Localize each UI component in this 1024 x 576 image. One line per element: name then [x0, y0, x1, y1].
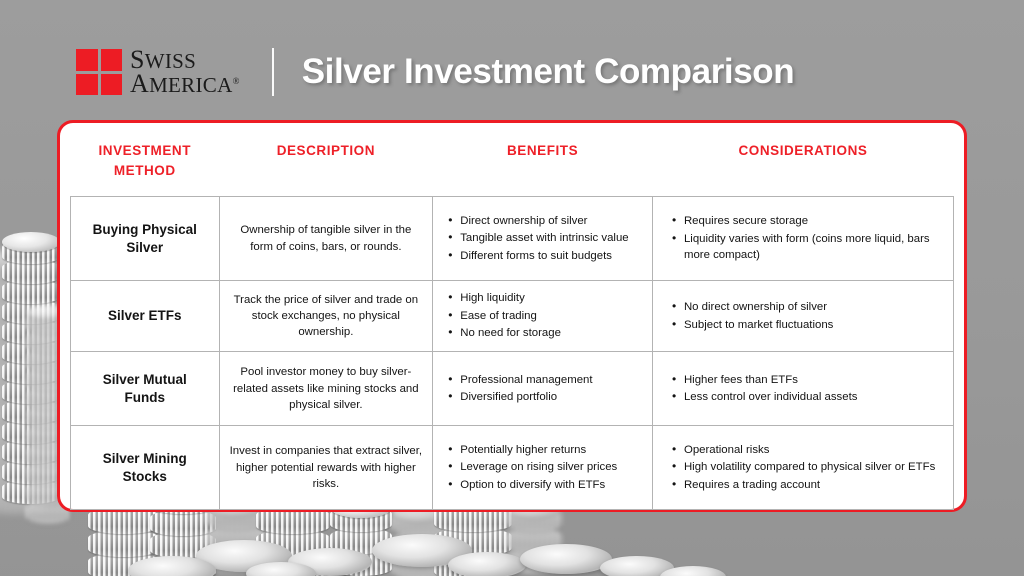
list-item: Leverage on rising silver prices: [447, 459, 642, 476]
column-header-description: DESCRIPTION: [219, 137, 433, 197]
list-item: No need for storage: [447, 325, 642, 342]
page-title: Silver Investment Comparison: [302, 52, 795, 92]
table-row: Silver Mutual FundsPool investor money t…: [71, 352, 954, 426]
cell-benefits: Potentially higher returnsLeverage on ri…: [433, 426, 653, 510]
cell-considerations-list: Requires secure storageLiquidity varies …: [671, 213, 943, 264]
cell-considerations-list: No direct ownership of silverSubject to …: [671, 299, 943, 333]
list-item: Potentially higher returns: [447, 442, 642, 459]
logo-wordmark: SWISS AMERICA®: [130, 48, 240, 96]
table-row: Silver Mining StocksInvest in companies …: [71, 426, 954, 510]
cell-considerations: No direct ownership of silverSubject to …: [652, 281, 953, 352]
table-row: Silver ETFsTrack the price of silver and…: [71, 281, 954, 352]
cell-investment-method: Silver Mutual Funds: [71, 352, 220, 426]
list-item: Operational risks: [671, 442, 943, 459]
cell-description: Invest in companies that extract silver,…: [219, 426, 433, 510]
cell-considerations-list: Higher fees than ETFsLess control over i…: [671, 372, 943, 406]
list-item: Requires secure storage: [671, 213, 943, 230]
logo-registered-mark: ®: [233, 76, 240, 86]
cell-investment-method: Buying Physical Silver: [71, 197, 220, 281]
cell-description: Track the price of silver and trade on s…: [219, 281, 433, 352]
cell-benefits: Direct ownership of silver Tangible asse…: [433, 197, 653, 281]
logo-line-america: AMERICA®: [130, 72, 240, 96]
cell-benefits-list: High liquidityEase of tradingNo need for…: [447, 290, 642, 342]
list-item: Option to diversify with ETFs: [447, 477, 642, 494]
cell-description: Ownership of tangible silver in the form…: [219, 197, 433, 281]
column-header-investment-method: INVESTMENT METHOD: [71, 137, 220, 197]
brand-logo: SWISS AMERICA®: [76, 48, 240, 96]
comparison-table: INVESTMENT METHOD DESCRIPTION BENEFITS C…: [70, 137, 954, 510]
cell-considerations-list: Operational risksHigh volatility compare…: [671, 442, 943, 494]
cell-considerations: Higher fees than ETFsLess control over i…: [652, 352, 953, 426]
cell-description: Pool investor money to buy silver-relate…: [219, 352, 433, 426]
table-header-row: INVESTMENT METHOD DESCRIPTION BENEFITS C…: [71, 137, 954, 197]
column-header-benefits: BENEFITS: [433, 137, 653, 197]
cell-investment-method: Silver Mining Stocks: [71, 426, 220, 510]
cell-investment-method: Silver ETFs: [71, 281, 220, 352]
cell-benefits-list: Potentially higher returnsLeverage on ri…: [447, 442, 642, 494]
page-header: SWISS AMERICA® Silver Investment Compari…: [0, 38, 1024, 106]
logo-squares-icon: [76, 49, 122, 95]
list-item: Liquidity varies with form (coins more l…: [671, 231, 943, 264]
table-body: Buying Physical SilverOwnership of tangi…: [71, 197, 954, 510]
list-item: Higher fees than ETFs: [671, 372, 943, 389]
list-item: Professional management: [447, 372, 642, 389]
list-item: Requires a trading account: [671, 477, 943, 494]
cell-considerations: Operational risksHigh volatility compare…: [652, 426, 953, 510]
list-item: Less control over individual assets: [671, 389, 943, 406]
table-row: Buying Physical SilverOwnership of tangi…: [71, 197, 954, 281]
cell-benefits: High liquidityEase of tradingNo need for…: [433, 281, 653, 352]
list-item: Diversified portfolio: [447, 389, 642, 406]
list-item: No direct ownership of silver: [671, 299, 943, 316]
column-header-considerations: CONSIDERATIONS: [652, 137, 953, 197]
list-item: Different forms to suit budgets: [447, 248, 642, 265]
list-item: High volatility compared to physical sil…: [671, 459, 943, 476]
comparison-card: INVESTMENT METHOD DESCRIPTION BENEFITS C…: [57, 120, 967, 512]
list-item: Direct ownership of silver: [447, 213, 642, 230]
cell-considerations: Requires secure storageLiquidity varies …: [652, 197, 953, 281]
list-item: Ease of trading: [447, 308, 642, 325]
cell-benefits: Professional managementDiversified portf…: [433, 352, 653, 426]
cell-benefits-list: Direct ownership of silver Tangible asse…: [447, 213, 642, 265]
list-item: Tangible asset with intrinsic value: [447, 230, 642, 247]
cell-benefits-list: Professional managementDiversified portf…: [447, 372, 642, 406]
list-item: Subject to market fluctuations: [671, 317, 943, 334]
list-item: High liquidity: [447, 290, 642, 307]
header-divider: [272, 48, 274, 96]
